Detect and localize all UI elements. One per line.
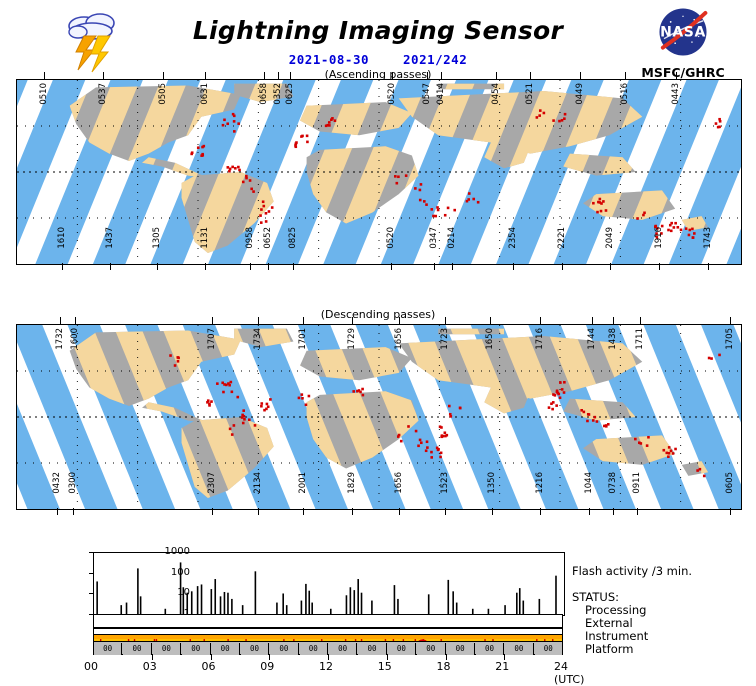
platform-cell: 00 bbox=[123, 643, 151, 655]
platform-cell: 00 bbox=[182, 643, 210, 655]
pass-time-label: 1437 bbox=[105, 227, 115, 249]
platform-cell: 00 bbox=[505, 643, 533, 655]
platform-cell: 00 bbox=[388, 643, 416, 655]
pass-time-label: 0537 bbox=[98, 83, 108, 105]
platform-cell: 00 bbox=[300, 643, 328, 655]
pass-time-label: 1716 bbox=[535, 328, 545, 350]
lightning-flash-layer bbox=[17, 80, 741, 264]
x-axis-label: 15 bbox=[378, 660, 392, 673]
platform-cell: 00 bbox=[476, 643, 504, 655]
pass-time-label: 1600 bbox=[70, 328, 80, 350]
status-label-external: External bbox=[572, 616, 633, 630]
pass-time-label: 0911 bbox=[632, 472, 642, 494]
platform-cell: 00 bbox=[94, 643, 122, 655]
x-axis-label: 21 bbox=[495, 660, 509, 673]
nasa-meatball-icon: NASA bbox=[655, 4, 711, 60]
pass-time-label: 1732 bbox=[55, 328, 65, 350]
pass-time-label: 1350 bbox=[487, 472, 497, 494]
platform-cell: 00 bbox=[153, 643, 181, 655]
pass-time-label: 1656 bbox=[394, 472, 404, 494]
x-axis-label: 09 bbox=[260, 660, 274, 673]
platform-cell: 00 bbox=[241, 643, 269, 655]
svg-text:NASA: NASA bbox=[660, 24, 706, 40]
platform-cell: 00 bbox=[358, 643, 386, 655]
platform-cell: 00 bbox=[270, 643, 298, 655]
y-axis-tick bbox=[89, 552, 94, 553]
status-label-instrument: Instrument bbox=[572, 629, 648, 643]
ascending-passes-map[interactable] bbox=[16, 79, 742, 265]
pass-time-label: 2134 bbox=[253, 472, 263, 494]
pass-time-label: 0432 bbox=[52, 472, 62, 494]
pass-time-label: 0510 bbox=[39, 83, 49, 105]
pass-time-label: 1829 bbox=[347, 472, 357, 494]
status-row-processing[interactable] bbox=[93, 614, 563, 628]
flash-activity-chart[interactable] bbox=[93, 552, 565, 616]
x-axis-label: 06 bbox=[202, 660, 216, 673]
pass-time-label: 1610 bbox=[57, 227, 67, 249]
pass-time-label: 0958 bbox=[245, 227, 255, 249]
platform-cell: 00 bbox=[212, 643, 240, 655]
pass-time-label: 1711 bbox=[635, 328, 645, 350]
agency-caption: MSFC/GHRC bbox=[628, 65, 738, 80]
day-of-year: 2021/242 bbox=[403, 52, 467, 67]
status-label-platform: Platform bbox=[572, 642, 634, 656]
pass-time-label: 2221 bbox=[557, 227, 567, 249]
nasa-logo-block: NASA MSFC/GHRC bbox=[628, 4, 738, 80]
pass-time-label: 1707 bbox=[207, 328, 217, 350]
pass-time-label: 1744 bbox=[587, 328, 597, 350]
pass-time-label: 1723 bbox=[440, 328, 450, 350]
pass-time-label: 1656 bbox=[394, 328, 404, 350]
pass-time-label: 0825 bbox=[288, 227, 298, 249]
x-axis-label: 18 bbox=[437, 660, 451, 673]
pass-time-label: 0652 bbox=[263, 227, 273, 249]
page-header: Lightning Imaging Sensor 2021-08-302021/… bbox=[0, 0, 756, 80]
pass-time-label: 0443 bbox=[671, 83, 681, 105]
pass-time-label: 1044 bbox=[584, 472, 594, 494]
x-axis-label: 00 bbox=[84, 660, 98, 673]
pass-time-label: 1305 bbox=[152, 227, 162, 249]
pass-time-label: 1650 bbox=[485, 328, 495, 350]
pass-time-label: 2307 bbox=[207, 472, 217, 494]
pass-time-label: 0631 bbox=[200, 83, 210, 105]
pass-time-label: 2354 bbox=[508, 227, 518, 249]
status-label-processing: Processing bbox=[572, 603, 646, 617]
pass-time-label: 1216 bbox=[535, 472, 545, 494]
status-row-platform[interactable]: 00000000000000000000000000000000 bbox=[93, 641, 563, 655]
pass-time-label: 0547 bbox=[422, 83, 432, 105]
platform-cell: 00 bbox=[329, 643, 357, 655]
pass-time-label: 1729 bbox=[347, 328, 357, 350]
pass-time-label: 0214 bbox=[447, 227, 457, 249]
pass-time-label: 0520 bbox=[386, 227, 396, 249]
y-axis-label: 10 bbox=[177, 587, 190, 598]
x-axis-label: 03 bbox=[143, 660, 157, 673]
status-heading: STATUS: bbox=[572, 590, 619, 604]
pass-time-label: 0605 bbox=[725, 472, 735, 494]
descending-passes-caption: (Descending passes) bbox=[0, 308, 756, 321]
x-axis-label: 24 (UTC) bbox=[554, 660, 584, 686]
pass-time-label: 1705 bbox=[725, 328, 735, 350]
y-axis-label: 1000 bbox=[165, 546, 190, 557]
pass-time-label: 0520 bbox=[387, 83, 397, 105]
y-axis-tick bbox=[89, 573, 94, 574]
pass-time-label: 0352 bbox=[273, 83, 283, 105]
time-axis: 000306091215182124 (UTC) bbox=[93, 655, 563, 667]
pass-time-label: 0521 bbox=[525, 83, 535, 105]
pass-time-label: 0300 bbox=[68, 472, 78, 494]
pass-time-label: 2001 bbox=[298, 472, 308, 494]
chart-legend-label: Flash activity /3 min. bbox=[572, 564, 692, 578]
platform-cell: 00 bbox=[417, 643, 445, 655]
pass-time-label: 2049 bbox=[605, 227, 615, 249]
pass-time-label: 0738 bbox=[608, 472, 618, 494]
pass-time-label: 0449 bbox=[575, 83, 585, 105]
x-axis-label: 12 bbox=[319, 660, 333, 673]
pass-time-label: 1743 bbox=[703, 227, 713, 249]
pass-time-label: 1131 bbox=[200, 227, 210, 249]
pass-time-label: 0454 bbox=[491, 83, 501, 105]
pass-time-label: 0347 bbox=[429, 227, 439, 249]
flash-activity-panel: 1101001000 Flash activity /3 min. STATUS… bbox=[0, 546, 756, 680]
y-axis-tick bbox=[89, 593, 94, 594]
y-axis-label: 100 bbox=[171, 567, 190, 578]
pass-time-label: 0658 bbox=[259, 83, 269, 105]
pass-time-label: 1438 bbox=[608, 328, 618, 350]
platform-cell: 00 bbox=[535, 643, 563, 655]
pass-time-label: 0505 bbox=[158, 83, 168, 105]
pass-time-label: 0625 bbox=[285, 83, 295, 105]
pass-time-label: 0516 bbox=[620, 83, 630, 105]
observation-date: 2021-08-30 bbox=[289, 52, 369, 67]
pass-time-label: 1916 bbox=[654, 227, 664, 249]
pass-time-label: 0414 bbox=[436, 83, 446, 105]
platform-cell: 00 bbox=[447, 643, 475, 655]
pass-time-label: 1523 bbox=[440, 472, 450, 494]
pass-time-label: 1734 bbox=[253, 328, 263, 350]
pass-time-label: 1701 bbox=[298, 328, 308, 350]
